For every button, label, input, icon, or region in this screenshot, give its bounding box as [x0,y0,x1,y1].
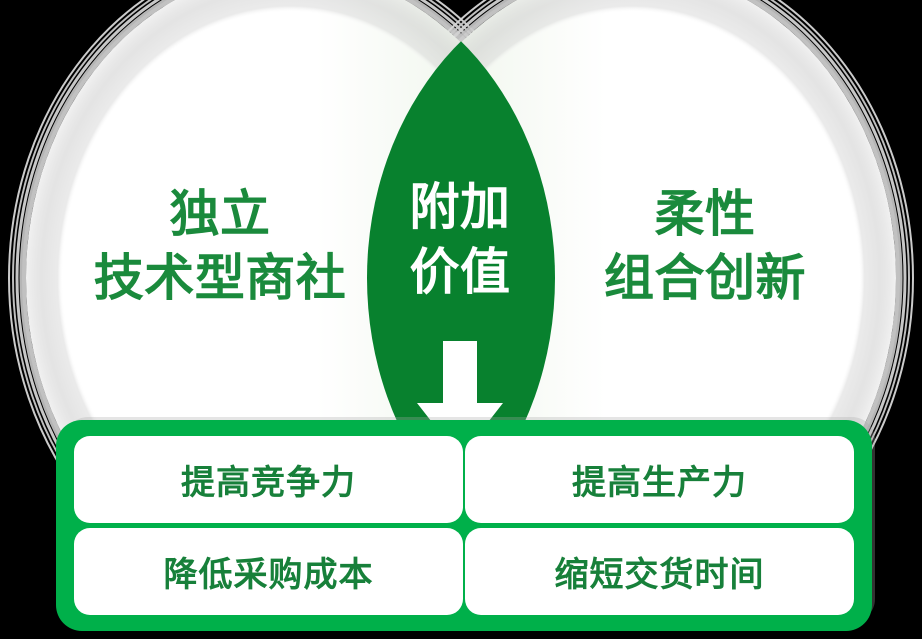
benefit-label-4: 缩短交货时间 [555,547,765,596]
benefit-label-3: 降低采购成本 [164,547,374,596]
benefit-box-2[interactable]: 提高生产力 [465,436,854,523]
diagram-canvas: 独立 技术型商社 附加 价值 柔性 组合创新 提高竞争力 提高生产力 降低采购成… [0,0,922,639]
benefit-label-2: 提高生产力 [572,455,747,504]
benefit-label-1: 提高竞争力 [181,455,356,504]
benefit-panel: 提高竞争力 提高生产力 降低采购成本 缩短交货时间 [56,420,872,631]
benefit-box-3[interactable]: 降低采购成本 [74,528,463,615]
benefit-box-1[interactable]: 提高竞争力 [74,436,463,523]
benefit-box-4[interactable]: 缩短交货时间 [465,528,854,615]
